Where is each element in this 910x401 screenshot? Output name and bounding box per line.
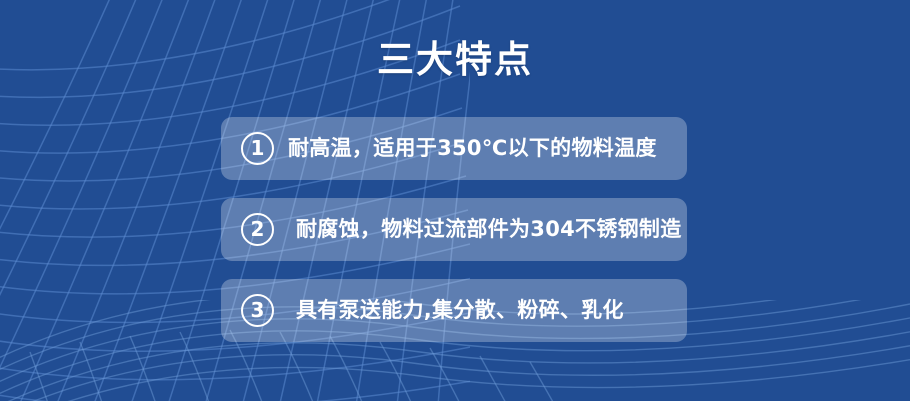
feature-text: 具有泵送能力,集分散、粉碎、乳化 [296,300,624,321]
circled-number-icon: 3 [241,294,274,327]
slide-canvas: 三大特点 1 耐高温，适用于350℃以下的物料温度 2 耐腐蚀，物料过流部件为3… [0,0,910,401]
badge-number: 2 [251,219,265,239]
feature-text: 耐腐蚀，物料过流部件为304不锈钢制造 [296,219,682,240]
list-item[interactable]: 3 具有泵送能力,集分散、粉碎、乳化 [221,279,687,342]
page-title: 三大特点 [0,40,910,81]
circled-number-icon: 1 [241,132,274,165]
list-item[interactable]: 2 耐腐蚀，物料过流部件为304不锈钢制造 [221,198,687,261]
badge-number: 3 [251,300,265,320]
circled-number-icon: 2 [241,213,274,246]
feature-list: 1 耐高温，适用于350℃以下的物料温度 2 耐腐蚀，物料过流部件为304不锈钢… [221,117,687,342]
feature-text: 耐高温，适用于350℃以下的物料温度 [288,138,657,159]
list-item[interactable]: 1 耐高温，适用于350℃以下的物料温度 [221,117,687,180]
badge-number: 1 [251,138,265,158]
